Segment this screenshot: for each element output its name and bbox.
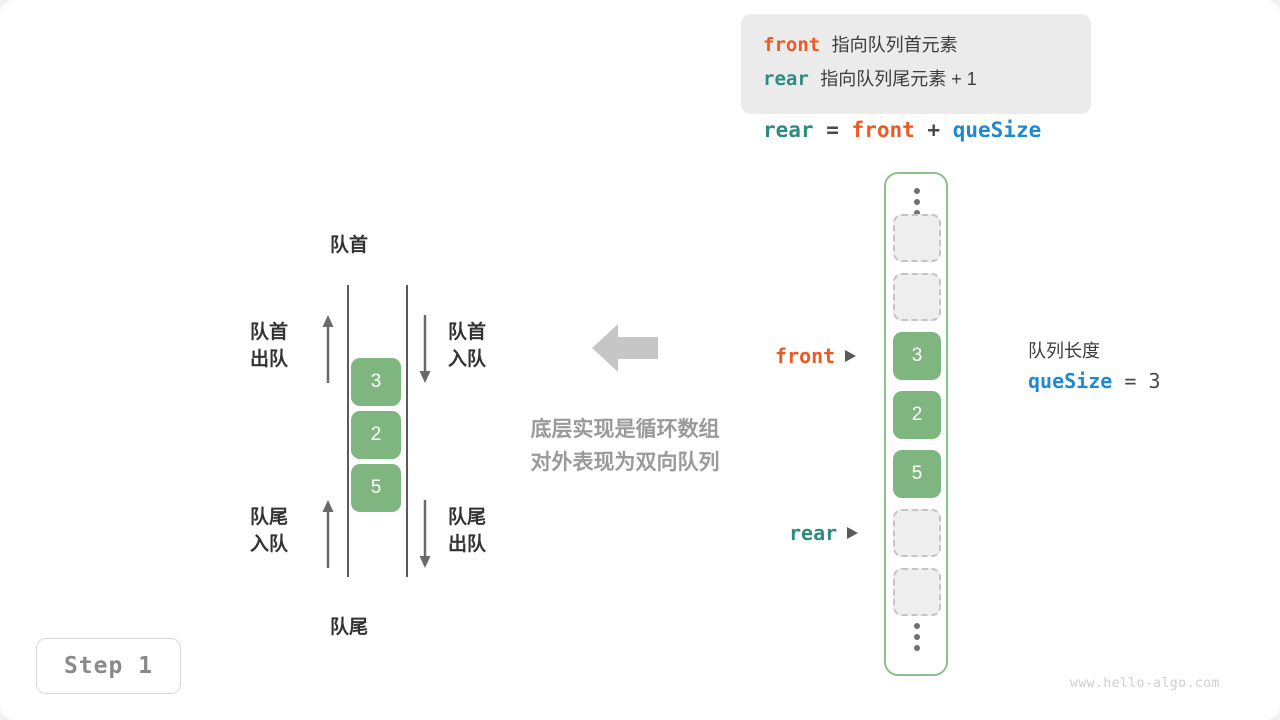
front-pointer: front (775, 344, 856, 368)
deque-op-front-dequeue-l1: 队首 (250, 319, 288, 346)
array-cell-0 (893, 214, 941, 262)
legend-line-rear: rear 指向队列尾元素 + 1 (763, 62, 1091, 96)
deque-title-rear: 队尾 (330, 612, 368, 639)
arrow-down-front-enqueue-icon (415, 315, 435, 383)
center-note-line2: 对外表现为双向队列 (531, 446, 720, 479)
array-cell-2: 3 (893, 332, 941, 380)
formula-quesize: queSize (953, 118, 1042, 142)
front-pointer-label: front (775, 344, 835, 368)
deque-cell-0: 3 (351, 358, 401, 406)
rear-arrowhead-icon (847, 527, 858, 539)
quesize-expression: queSize = 3 (1028, 365, 1160, 397)
deque-op-front-dequeue-l2: 出队 (250, 346, 288, 373)
quesize-name: queSize (1028, 369, 1112, 393)
deque-cell-1: 2 (351, 411, 401, 459)
deque-op-rear-dequeue-l1: 队尾 (448, 504, 486, 531)
legend-line-front: front 指向队列首元素 (763, 28, 1091, 62)
arrow-up-front-dequeue-icon (318, 315, 338, 383)
formula-rear-equals-front-plus-quesize: rear = front + queSize (763, 118, 1041, 142)
array-cell-4: 5 (893, 450, 941, 498)
deque-rail-right (406, 285, 408, 577)
front-arrowhead-icon (845, 350, 856, 362)
array-cell-6 (893, 568, 941, 616)
deque-cell-2: 5 (351, 464, 401, 512)
formula-front: front (852, 118, 915, 142)
deque-op-rear-dequeue-l2: 出队 (448, 531, 486, 558)
deque-op-front-enqueue-l1: 队首 (448, 319, 486, 346)
array-cell-3: 2 (893, 391, 941, 439)
rear-pointer: rear (789, 521, 858, 545)
watermark: www.hello-algo.com (1070, 676, 1220, 691)
step-badge-label: Step 1 (64, 653, 153, 679)
rear-pointer-label: rear (789, 521, 837, 545)
deque-op-front-enqueue-l2: 入队 (448, 346, 486, 373)
ellipsis-bottom-icon (912, 623, 922, 651)
circular-array-container: 3 2 5 (884, 172, 948, 676)
arrow-up-rear-enqueue-icon (318, 500, 338, 568)
deque-op-front-dequeue: 队首 出队 (250, 319, 288, 373)
legend-rear-text: 指向队列尾元素 + 1 (820, 69, 977, 89)
deque-op-rear-enqueue: 队尾 入队 (250, 504, 288, 558)
deque-op-rear-enqueue-l2: 入队 (250, 531, 288, 558)
quesize-note: 队列长度 queSize = 3 (1028, 337, 1160, 397)
legend-front-text: 指向队列首元素 (832, 35, 958, 55)
step-badge: Step 1 (36, 638, 181, 694)
formula-equals: = (826, 118, 839, 142)
ellipsis-top-icon (912, 188, 922, 216)
deque-op-rear-enqueue-l1: 队尾 (250, 504, 288, 531)
quesize-equals: = (1124, 369, 1136, 393)
pointer-legend-box: front 指向队列首元素 rear 指向队列尾元素 + 1 (741, 14, 1091, 114)
array-cell-1 (893, 273, 941, 321)
legend-rear-token: rear (763, 68, 809, 90)
center-note: 底层实现是循环数组 对外表现为双向队列 (531, 413, 720, 479)
formula-plus: + (927, 118, 940, 142)
array-cell-5 (893, 509, 941, 557)
deque-op-rear-dequeue: 队尾 出队 (448, 504, 486, 558)
diagram-canvas: front 指向队列首元素 rear 指向队列尾元素 + 1 rear = fr… (0, 0, 1280, 720)
formula-rear: rear (763, 118, 814, 142)
center-note-line1: 底层实现是循环数组 (531, 413, 720, 446)
deque-op-front-enqueue: 队首 入队 (448, 319, 486, 373)
big-left-arrow-icon (592, 320, 658, 376)
deque-title-front: 队首 (330, 230, 368, 257)
quesize-value: 3 (1148, 369, 1160, 393)
arrow-down-rear-dequeue-icon (415, 500, 435, 568)
quesize-caption: 队列长度 (1028, 337, 1160, 365)
deque-rail-left (347, 285, 349, 577)
legend-front-token: front (763, 34, 820, 56)
